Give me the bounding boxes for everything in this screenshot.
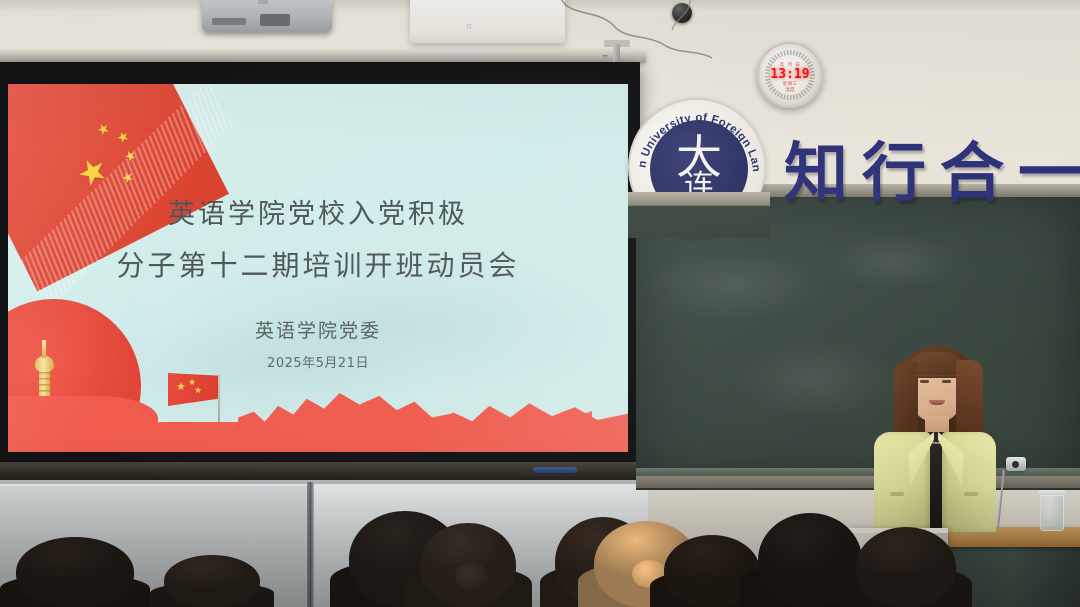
presenter-mouth	[929, 400, 945, 405]
slide-date: 2025年5月21日	[8, 352, 628, 371]
audience-head-7	[840, 517, 972, 607]
classroom-photo: ☈ ▸▸ ★ ★ ★ ★ ★	[0, 0, 1080, 607]
clock-time-display: 13:19	[770, 68, 810, 81]
projector-icon	[202, 0, 332, 32]
wall-calligraphy: 知行合一	[784, 122, 1080, 214]
clock-temp-label: 温度	[770, 87, 810, 93]
audience-hair-bun	[455, 563, 488, 589]
roller-label: ▸▸	[603, 53, 608, 59]
projection-screen-frame: ★ ★ ★ ★ ★ ★ ★ ★	[0, 62, 640, 474]
chalk-residue	[636, 197, 1080, 490]
slide-title-line-1: 英语学院党校入党积极	[8, 192, 628, 231]
presenter-figure	[868, 340, 1000, 540]
panel-divider	[307, 482, 314, 607]
chalkboard	[636, 197, 1080, 490]
wall-clock: 年 月 日 13:19 星期三 温度	[757, 42, 823, 108]
projection-screen[interactable]: ★ ★ ★ ★ ★ ★ ★ ★	[8, 84, 628, 452]
presenter-eye-right	[942, 380, 951, 383]
brand-logo: ☈	[458, 22, 480, 33]
slide-text-block: 英语学院党校入党积极 分子第十二期培训开班动员会 英语学院党委 2025年5月2…	[8, 84, 628, 452]
presenter-eye-left	[920, 380, 929, 383]
seal-occluder	[628, 192, 770, 238]
chalk-tray	[636, 476, 1080, 488]
blue-marker-icon[interactable]	[533, 467, 577, 473]
audience-head-2	[404, 513, 532, 607]
presenter-pocket-left	[890, 492, 904, 496]
panel-top-edge	[0, 480, 648, 484]
audience-head	[856, 527, 956, 607]
desk-microphone-mount-icon	[1006, 457, 1026, 471]
projector-mount	[258, 0, 268, 4]
audience-head-8	[0, 527, 150, 607]
audience-head	[16, 537, 134, 607]
audience-head-9	[150, 545, 274, 607]
clock-face: 年 月 日 13:19 星期三 温度	[770, 55, 810, 95]
audience-head	[164, 555, 260, 607]
water-glass-icon	[1040, 495, 1064, 531]
slide-title-line-2: 分子第十二期培训开班动员会	[8, 244, 628, 284]
presenter-pocket-right	[964, 492, 978, 496]
slide-organization: 英语学院党委	[8, 316, 628, 343]
